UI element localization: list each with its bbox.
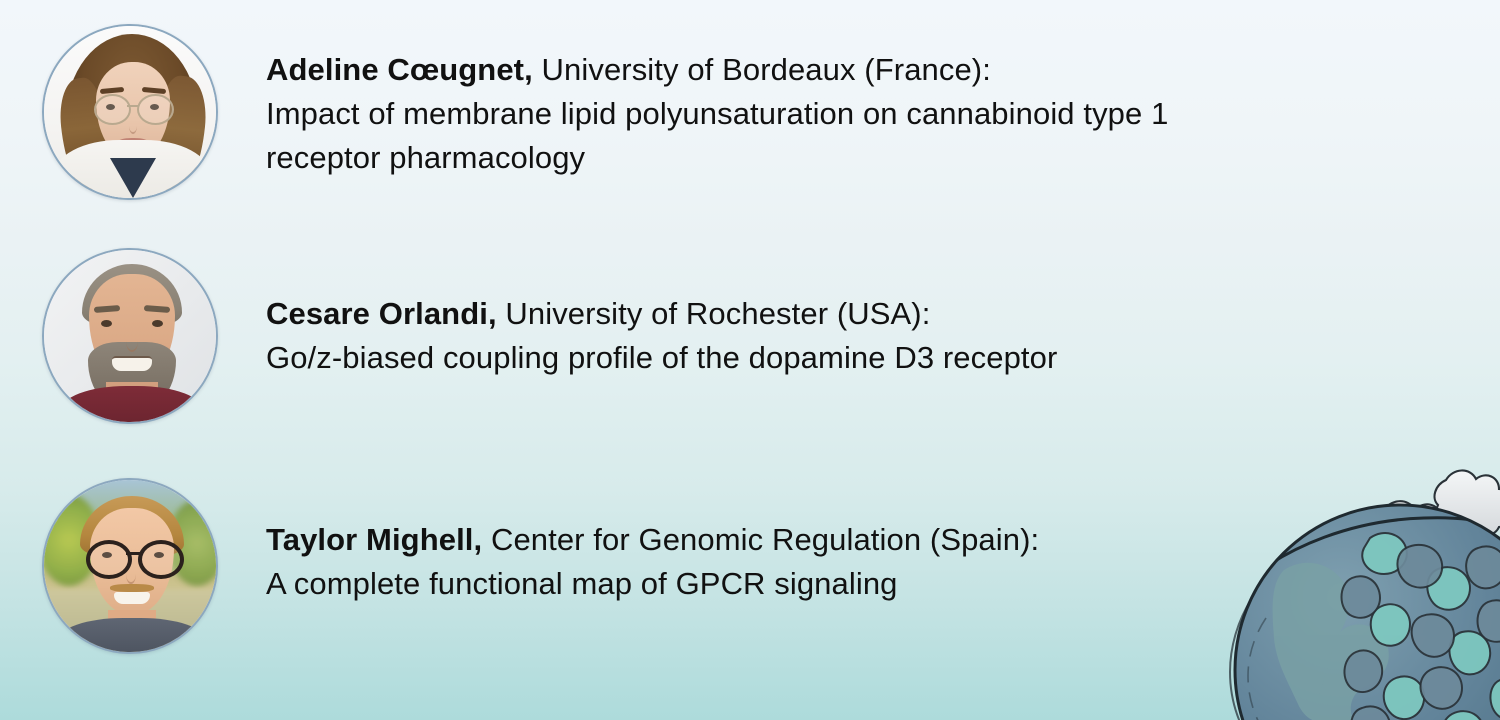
talk-title: Impact of membrane lipid polyunsaturatio… — [266, 92, 1276, 180]
avatar — [42, 478, 218, 654]
speaker-affiliation: University of Bordeaux (France): — [542, 52, 991, 87]
speaker-text-block: Cesare Orlandi, University of Rochester … — [266, 248, 1500, 380]
portrait-photo — [44, 26, 216, 198]
speaker-text-block: Adeline Cœugnet, University of Bordeaux … — [266, 24, 1500, 180]
speaker-affiliation: University of Rochester (USA): — [505, 296, 930, 331]
slide-canvas: Adeline Cœugnet, University of Bordeaux … — [0, 0, 1500, 720]
speaker-name: Adeline Cœugnet, — [266, 52, 533, 87]
avatar — [42, 248, 218, 424]
speaker-entry: Adeline Cœugnet, University of Bordeaux … — [0, 24, 1500, 200]
speaker-affiliation: Center for Genomic Regulation (Spain): — [491, 522, 1039, 557]
speaker-headline: Taylor Mighell, Center for Genomic Regul… — [266, 518, 1500, 562]
portrait-photo — [44, 480, 216, 652]
talk-title: Go/z-biased coupling profile of the dopa… — [266, 336, 1276, 380]
speaker-entry: Cesare Orlandi, University of Rochester … — [0, 248, 1500, 424]
talk-title: A complete functional map of GPCR signal… — [266, 562, 1276, 606]
speaker-headline: Cesare Orlandi, University of Rochester … — [266, 292, 1500, 336]
speaker-text-block: Taylor Mighell, Center for Genomic Regul… — [266, 478, 1500, 606]
speaker-name: Taylor Mighell, — [266, 522, 482, 557]
speaker-entry: Taylor Mighell, Center for Genomic Regul… — [0, 478, 1500, 654]
portrait-photo — [44, 250, 216, 422]
avatar — [42, 24, 218, 200]
speaker-headline: Adeline Cœugnet, University of Bordeaux … — [266, 48, 1500, 92]
speaker-name: Cesare Orlandi, — [266, 296, 497, 331]
